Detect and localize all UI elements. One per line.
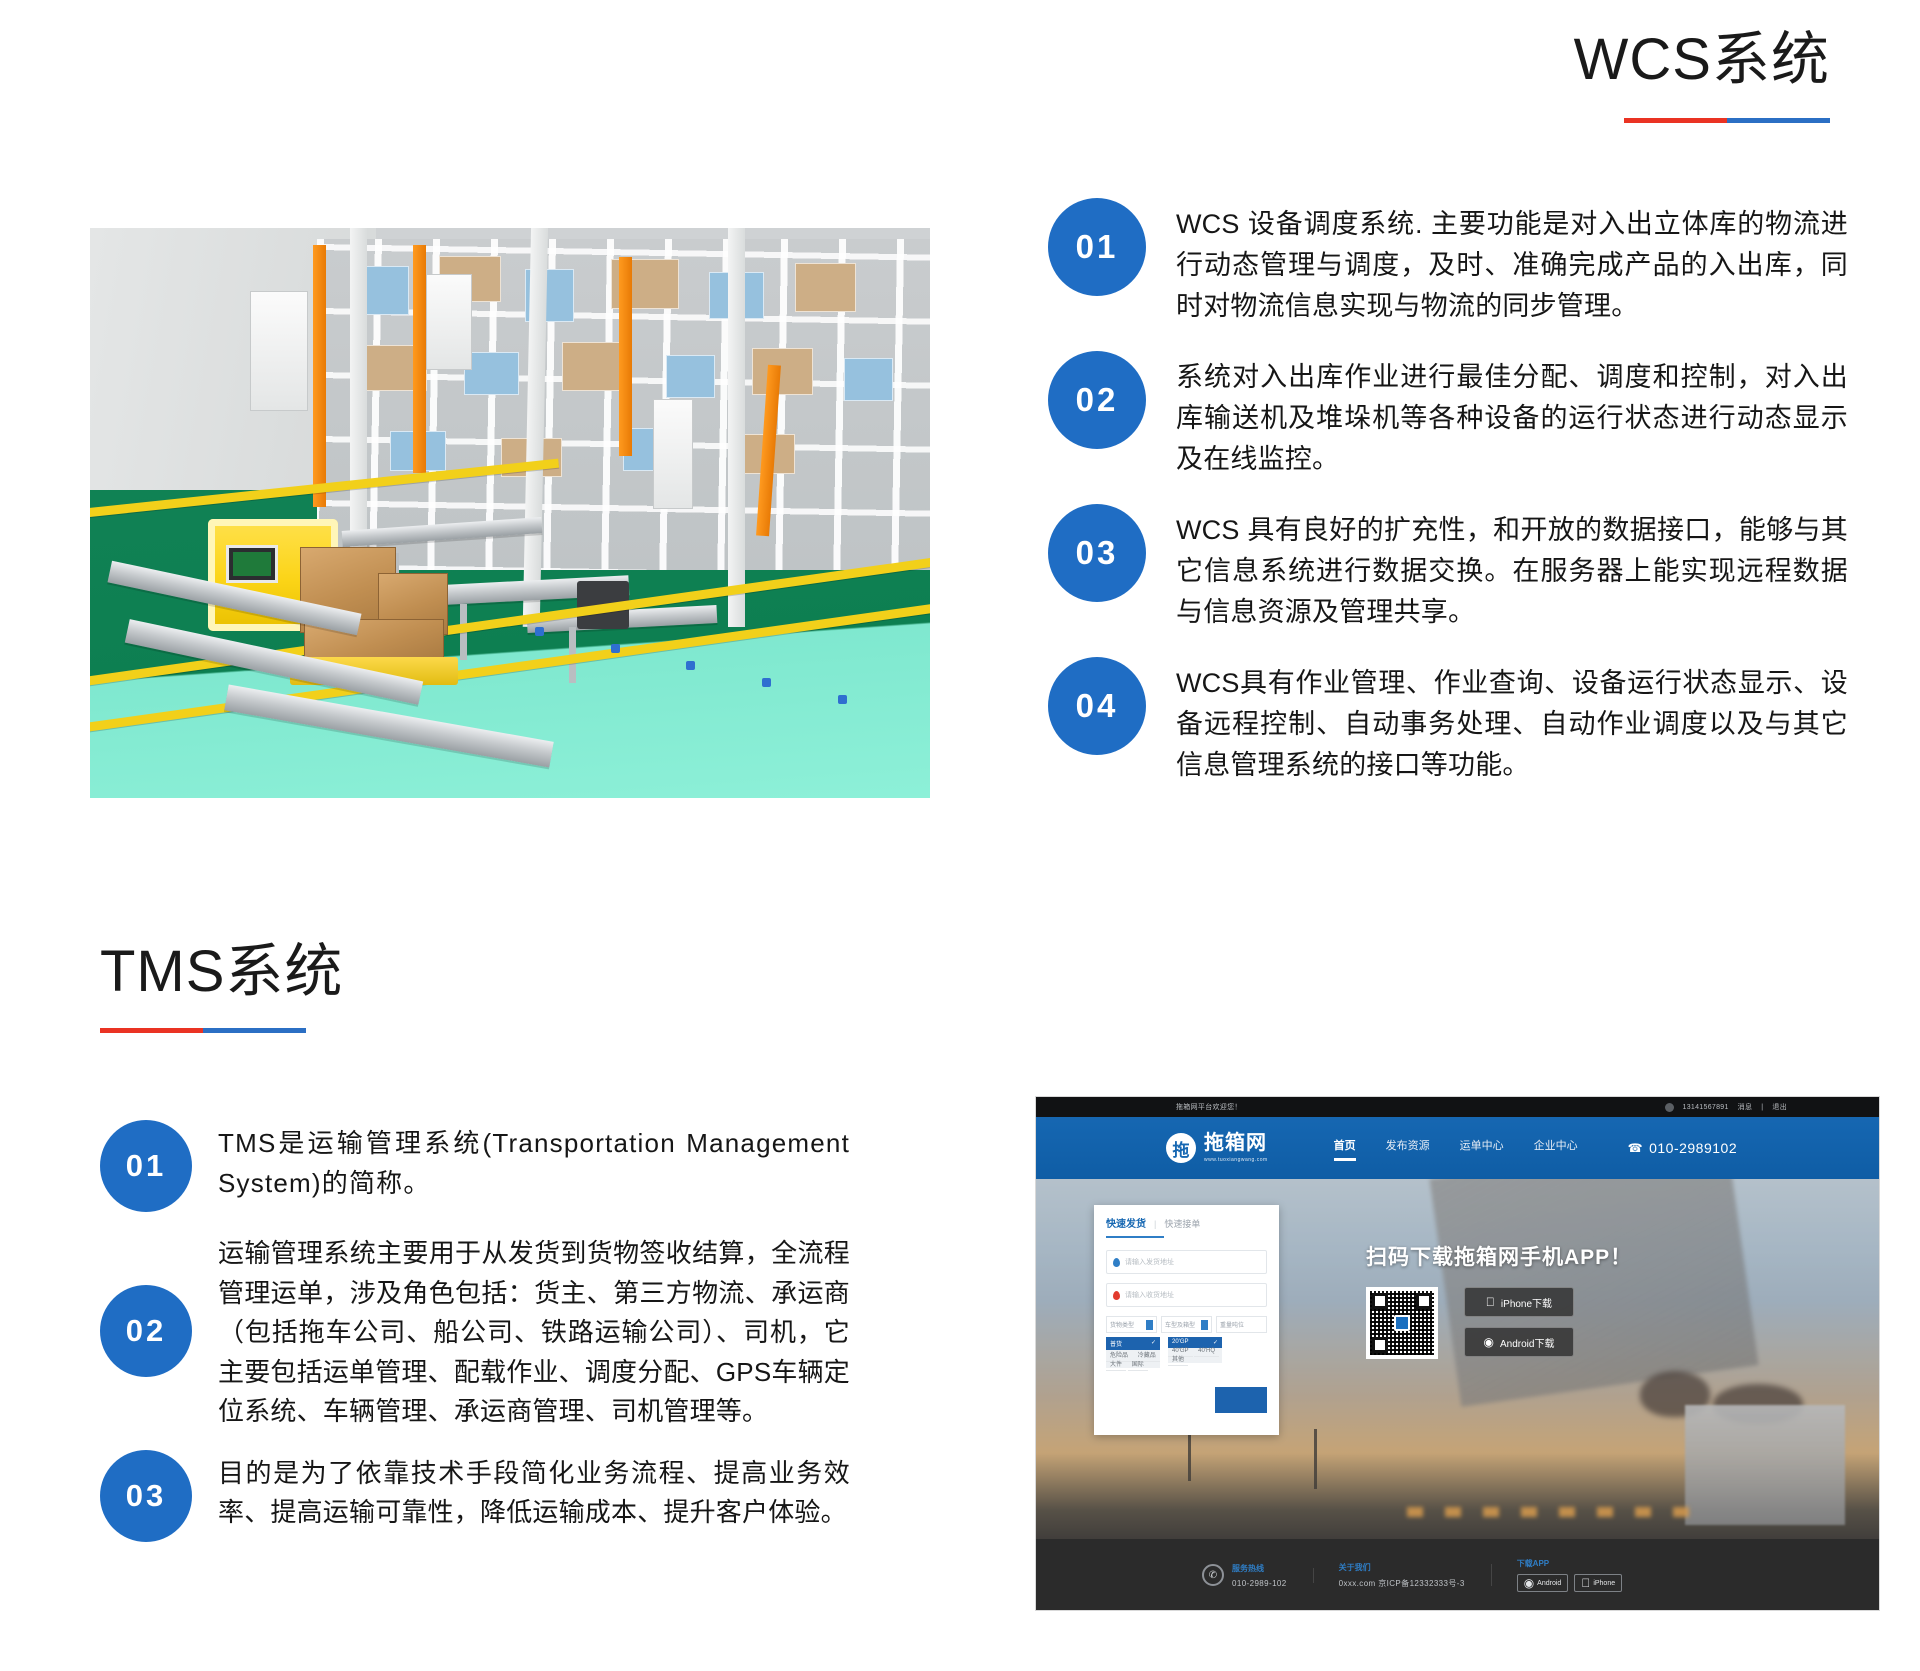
tab-separator: | (1154, 1219, 1156, 1229)
footer-android-label: Android (1537, 1580, 1561, 1587)
list-item: 02 运输管理系统主要用于从发货到货物签收结算，全流程管理运单，涉及角色包括：货… (100, 1230, 890, 1432)
tms-website-screenshot: 拖箱网平台欢迎您！ 13141567891 消息 | 退出 拖 拖箱网 www.… (1035, 1096, 1880, 1611)
nav-item-waybill[interactable]: 运单中心 (1460, 1137, 1504, 1159)
select-vehicle-type-label: 车型及箱型 (1165, 1320, 1195, 1329)
footer-app-column: 下载APP ◉ Android  iPhone (1491, 1558, 1648, 1592)
phone-number: 010-2989102 (1649, 1140, 1737, 1156)
wcs-section-title: WCS系统 (1574, 28, 1830, 92)
download-buttons:  iPhone下载 ◉ Android下载 (1464, 1287, 1574, 1357)
check-icon: ✓ (1213, 1339, 1218, 1346)
tms-feature-list: 01 TMS是运输管理系统(Transportation Management … (100, 1120, 890, 1560)
wcs-title-underline (1624, 118, 1830, 123)
equipment-cabinet (426, 274, 472, 370)
floor-sensor (535, 627, 544, 636)
list-item: 02 系统对入出库作业进行最佳分配、调度和控制，对入出库输送机及堆垛机等各种设备… (1048, 351, 1888, 480)
tms-title-underline (100, 1028, 306, 1033)
origin-placeholder: 请输入发货地址 (1125, 1257, 1174, 1267)
tab-quick-ship[interactable]: 快速发货 (1106, 1215, 1146, 1230)
floor-sensor (611, 644, 620, 653)
select-vehicle-type[interactable]: 车型及箱型 (1161, 1316, 1212, 1333)
android-icon: ◉ (1484, 1336, 1494, 1348)
tab-quick-order[interactable]: 快速接单 (1164, 1217, 1200, 1230)
site-topbar: 拖箱网平台欢迎您！ 13141567891 消息 | 退出 (1036, 1097, 1879, 1117)
topbar-separator: | (1761, 1104, 1763, 1111)
app-download-promo: 扫码下载拖箱网手机APP！  iPhone下载 (1366, 1241, 1632, 1359)
check-icon: ✓ (1151, 1339, 1156, 1348)
topbar-account-name: 13141567891 (1683, 1104, 1729, 1111)
item-text: 系统对入出库作业进行最佳分配、调度和控制，对入出库输送机及堆垛机等各种设备的运行… (1176, 351, 1848, 480)
site-menu: 首页 发布资源 运单中心 企业中心 (1334, 1137, 1578, 1159)
list-item: 01 TMS是运输管理系统(Transportation Management … (100, 1120, 890, 1212)
item-text: TMS是运输管理系统(Transportation Management Sys… (218, 1120, 850, 1203)
stacker-crane-mast (619, 257, 632, 457)
underline-blue-segment (1727, 118, 1830, 123)
item-number-badge: 03 (1048, 504, 1146, 602)
qr-center-logo-icon (1394, 1315, 1410, 1331)
footer-android-button[interactable]: ◉ Android (1517, 1574, 1569, 1592)
logo-text: 拖箱网 (1204, 1132, 1267, 1154)
underline-red-segment (100, 1028, 203, 1033)
topbar-link-logout[interactable]: 退出 (1772, 1102, 1787, 1112)
select-cargo-type-label: 货物类型 (1110, 1320, 1134, 1329)
list-item: 03 目的是为了依靠技术手段简化业务流程、提高业务效率、提高运输可靠性，降低运输… (100, 1450, 890, 1542)
qr-eye-icon (1372, 1293, 1388, 1309)
iphone-download-label: iPhone下载 (1501, 1295, 1552, 1310)
dropdown-option[interactable]: 40'HQ (1194, 1346, 1219, 1357)
item-number-badge: 02 (1048, 351, 1146, 449)
item-text: WCS 具有良好的扩充性，和开放的数据接口，能够与其它信息系统进行数据交换。在服… (1176, 504, 1848, 633)
equipment-cabinet (653, 399, 693, 509)
qr-eye-icon (1416, 1293, 1432, 1309)
quick-ship-card: 快速发货 | 快速接单 请输入发货地址 请输入收货地址 货物类型 (1094, 1205, 1279, 1435)
footer-iphone-label: iPhone (1593, 1580, 1615, 1587)
dropdown-selected-label: 20'GP (1172, 1339, 1189, 1346)
dropdown-selected-label: 普货 (1110, 1339, 1122, 1348)
wcs-feature-list: 01 WCS 设备调度系统. 主要功能是对入出立体库的物流进行动态管理与调度，及… (1048, 198, 1888, 810)
structural-column (728, 228, 745, 627)
iphone-download-button[interactable]:  iPhone下载 (1464, 1287, 1574, 1317)
nav-item-company[interactable]: 企业中心 (1534, 1137, 1578, 1159)
app-promo-title: 扫码下载拖箱网手机APP！ (1366, 1241, 1632, 1271)
select-weight-label: 重量吨位 (1220, 1320, 1244, 1329)
slide-root: WCS系统 (0, 0, 1920, 1671)
android-icon: ◉ (1524, 1577, 1534, 1589)
footer-hotline-heading: 服务热线 (1232, 1563, 1287, 1574)
item-text: 运输管理系统主要用于从发货到货物签收结算，全流程管理运单，涉及角色包括：货主、第… (218, 1230, 850, 1432)
user-avatar-icon (1665, 1103, 1674, 1112)
apple-icon:  (1486, 1296, 1495, 1308)
submit-button[interactable] (1215, 1387, 1267, 1413)
cargo-selects: 货物类型 车型及箱型 重量吨位 (1106, 1316, 1267, 1333)
dropdown-option[interactable]: 国际 (1128, 1360, 1148, 1371)
dropdown-option[interactable]: 其他 (1168, 1355, 1188, 1366)
chevron-down-icon (1146, 1320, 1153, 1330)
footer-iphone-button[interactable]:  iPhone (1574, 1574, 1622, 1592)
stacker-crane-mast (413, 245, 426, 473)
tms-section-title: TMS系统 (100, 940, 343, 1004)
footer-hotline-column: ✆ 服务热线 010-2989-102 (1176, 1563, 1313, 1588)
dropdown-selected-option[interactable]: 普货 ✓ (1106, 1337, 1160, 1350)
footer-about-value: 0xxx.com 京ICP备12332333号-3 (1339, 1578, 1465, 1589)
warehouse-render-image (90, 228, 930, 798)
android-download-label: Android下载 (1500, 1335, 1554, 1350)
floor-sensor (686, 661, 695, 670)
apple-icon:  (1581, 1577, 1590, 1589)
dropdown-option[interactable]: 大件 (1106, 1360, 1126, 1371)
site-logo[interactable]: 拖 拖箱网 www.tuoxiangwang.com (1166, 1133, 1268, 1163)
topbar-welcome-text: 拖箱网平台欢迎您！ (1176, 1102, 1242, 1112)
stacker-crane-mast (313, 245, 326, 507)
logo-mark-icon: 拖 (1166, 1133, 1196, 1163)
site-hero-banner: 快速发货 | 快速接单 请输入发货地址 请输入收货地址 货物类型 (1036, 1179, 1879, 1539)
underline-blue-segment (203, 1028, 306, 1033)
phone-icon: ☎ (1628, 1142, 1643, 1154)
item-number-badge: 03 (100, 1450, 192, 1542)
list-item: 04 WCS具有作业管理、作业查询、设备运行状态显示、设备远程控制、自动事务处理… (1048, 657, 1888, 786)
nav-item-publish[interactable]: 发布资源 (1386, 1137, 1430, 1159)
site-phone: ☎ 010-2989102 (1628, 1140, 1737, 1156)
origin-pin-icon (1113, 1258, 1120, 1267)
item-number-badge: 04 (1048, 657, 1146, 755)
item-text: 目的是为了依靠技术手段简化业务流程、提高业务效率、提高运输可靠性，降低运输成本、… (218, 1450, 850, 1533)
topbar-account-area: 13141567891 消息 | 退出 (1665, 1102, 1787, 1112)
item-number-badge: 01 (1048, 198, 1146, 296)
floor-sensor (762, 678, 771, 687)
item-text: WCS具有作业管理、作业查询、设备运行状态显示、设备远程控制、自动事务处理、自动… (1176, 657, 1848, 786)
origin-input[interactable]: 请输入发货地址 (1106, 1250, 1267, 1274)
nav-item-home[interactable]: 首页 (1334, 1137, 1356, 1159)
app-promo-row:  iPhone下载 ◉ Android下载 (1366, 1287, 1632, 1359)
quick-ship-tabs: 快速发货 | 快速接单 (1106, 1215, 1267, 1230)
item-number-badge: 02 (100, 1285, 192, 1377)
floor-sensor (838, 695, 847, 704)
list-item: 03 WCS 具有良好的扩充性，和开放的数据接口，能够与其它信息系统进行数据交换… (1048, 504, 1888, 633)
item-number-badge: 01 (100, 1120, 192, 1212)
qr-eye-icon (1372, 1337, 1388, 1353)
headset-icon: ✆ (1202, 1564, 1224, 1586)
site-footer: ✆ 服务热线 010-2989-102 关于我们 0xxx.com 京ICP备1… (1036, 1539, 1879, 1611)
topbar-link-messages[interactable]: 消息 (1738, 1102, 1753, 1112)
list-item: 01 WCS 设备调度系统. 主要功能是对入出立体库的物流进行动态管理与调度，及… (1048, 198, 1888, 327)
equipment-cabinet (250, 291, 308, 411)
cargo-type-dropdown[interactable]: 普货 ✓ 危险品 冷藏品 大件 国际 (1106, 1337, 1160, 1368)
chevron-down-icon (1201, 1320, 1208, 1330)
footer-app-buttons: ◉ Android  iPhone (1517, 1574, 1622, 1592)
logo-subtext: www.tuoxiangwang.com (1204, 1157, 1268, 1163)
qr-code (1366, 1287, 1438, 1359)
destination-input[interactable]: 请输入收货地址 (1106, 1283, 1267, 1307)
site-navbar: 拖 拖箱网 www.tuoxiangwang.com 首页 发布资源 运单中心 … (1036, 1117, 1879, 1179)
footer-about-heading: 关于我们 (1339, 1562, 1465, 1573)
underline-red-segment (1624, 118, 1727, 123)
footer-hotline-value: 010-2989-102 (1232, 1579, 1287, 1588)
item-text: WCS 设备调度系统. 主要功能是对入出立体库的物流进行动态管理与调度，及时、准… (1176, 198, 1848, 327)
destination-pin-icon (1113, 1291, 1120, 1300)
select-cargo-type[interactable]: 货物类型 (1106, 1316, 1157, 1333)
vehicle-type-dropdown[interactable]: 20'GP ✓ 40'GP 40'HQ 其他 (1168, 1337, 1222, 1363)
select-weight[interactable]: 重量吨位 (1216, 1316, 1267, 1333)
destination-placeholder: 请输入收货地址 (1125, 1290, 1174, 1300)
active-tab-underline (1106, 1236, 1164, 1238)
footer-app-heading: 下载APP (1517, 1558, 1622, 1569)
hmi-screen (226, 545, 278, 583)
footer-about-column: 关于我们 0xxx.com 京ICP备12332333号-3 (1313, 1562, 1491, 1589)
android-download-button[interactable]: ◉ Android下载 (1464, 1327, 1574, 1357)
qr-pattern (1370, 1291, 1434, 1355)
